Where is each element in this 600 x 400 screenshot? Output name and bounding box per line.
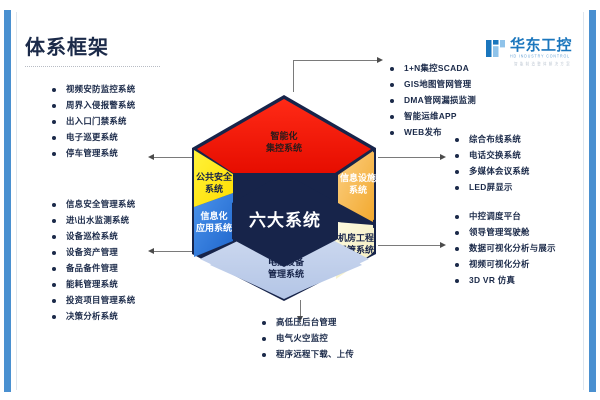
bullet-dot-icon (455, 170, 459, 174)
list-item: 设备巡检系统 (52, 231, 135, 242)
list-item-label: 进\出水监测系统 (66, 215, 129, 226)
hex-label-safety-2: 系统 (205, 183, 223, 194)
hex-label-intelligent-2: 集控系统 (265, 142, 302, 153)
title-divider (25, 66, 160, 67)
list-item-label: 综合布线系统 (469, 134, 521, 145)
list-item: DMA管网漏损监测 (390, 95, 476, 106)
hex-segment-intelligent-control: 智能化 集控系统 (197, 99, 371, 173)
list-item-label: 出入口门禁系统 (66, 116, 127, 127)
list-item: 高低压后台管理 (262, 317, 354, 328)
hex-label-intelligent-1: 智能化 (270, 130, 297, 141)
bullet-dot-icon (455, 215, 459, 219)
list-item-label: 信息安全管理系统 (66, 199, 135, 210)
right-accent-stripe (589, 10, 596, 392)
hex-label-facility-2: 系统 (349, 184, 367, 195)
list-item: 出入口门禁系统 (52, 116, 135, 127)
six-systems-hexagon: 智能化 集控系统 信息设施 系统 机房工程 运管系统 (186, 89, 382, 307)
list-item: 能耗管理系统 (52, 279, 135, 290)
bullet-dot-icon (455, 247, 459, 251)
list-item: 1+N集控SCADA (390, 63, 476, 74)
list-item-label: 电气火空监控 (276, 333, 328, 344)
hexagon-svg: 智能化 集控系统 信息设施 系统 机房工程 运管系统 (186, 89, 382, 307)
logo-text: 华东工控 HD INDUSTRY CONTROL (510, 38, 572, 59)
hex-label-app-2: 应用系统 (196, 222, 232, 233)
list-item: 中控调度平台 (455, 211, 556, 222)
list-item-label: 多媒体会议系统 (469, 166, 530, 177)
list-item: 多媒体会议系统 (455, 166, 530, 177)
list-item-label: 能耗管理系统 (66, 279, 118, 290)
left-accent-stripe (4, 10, 11, 392)
list-item-label: LED屏显示 (469, 182, 513, 193)
list-item-label: 电话交换系统 (469, 150, 521, 161)
hex-label-safety-1: 公共安全 (196, 171, 233, 182)
hex-label-room-1: 机房工程 (338, 232, 374, 243)
bullet-dot-icon (455, 186, 459, 190)
bullet-dot-icon (52, 104, 56, 108)
list-item-label: 1+N集控SCADA (404, 63, 469, 74)
list-item: 备品备件管理 (52, 263, 135, 274)
list-item-label: 领导管理驾驶舱 (469, 227, 530, 238)
bullet-dot-icon (455, 279, 459, 283)
list-item: 3D VR 仿真 (455, 275, 556, 286)
list-item: 电气火空监控 (262, 333, 354, 344)
bullet-dot-icon (52, 267, 56, 271)
title-block: 体系框架 (25, 36, 275, 67)
left-inner-rule (16, 12, 17, 390)
bullet-dot-icon (52, 251, 56, 255)
list-item-label: GIS地图管网管理 (404, 79, 471, 90)
hex-center-label: 六大系统 (249, 210, 321, 230)
list-item: 领导管理驾驶舱 (455, 227, 556, 238)
list-item: 程序远程下载、上传 (262, 349, 354, 360)
right-inner-rule (583, 12, 584, 390)
hex-label-facility-1: 信息设施 (340, 172, 376, 183)
list-item-label: DMA管网漏损监测 (404, 95, 476, 106)
list-item-label: 中控调度平台 (469, 211, 521, 222)
bullet-dot-icon (52, 315, 56, 319)
list-item: 智能运维APP (390, 111, 476, 122)
logo-bars-mark-icon (486, 40, 505, 57)
hex-label-electric-2: 管理系统 (268, 268, 304, 279)
list-item-label: 决策分析系统 (66, 311, 118, 322)
bullet-dot-icon (52, 136, 56, 140)
list-item: 周界入侵报警系统 (52, 100, 135, 111)
list-item-label: 备品备件管理 (66, 263, 118, 274)
list-intelligent-control-systems: 1+N集控SCADAGIS地图管网管理DMA管网漏损监测智能运维APPWEB发布 (390, 63, 476, 143)
list-item-label: 设备资产管理 (66, 247, 118, 258)
list-item: 进\出水监测系统 (52, 215, 135, 226)
logo-name-cn: 华东工控 (510, 38, 572, 53)
list-item: 电话交换系统 (455, 150, 530, 161)
list-item: 电子巡更系统 (52, 132, 135, 143)
bullet-dot-icon (52, 120, 56, 124)
list-item: 投资项目管理系统 (52, 295, 135, 306)
bullet-dot-icon (390, 67, 394, 71)
list-info-facility-systems: 综合布线系统电话交换系统多媒体会议系统LED屏显示 (455, 134, 530, 198)
list-item-label: 数据可视化分析与展示 (469, 243, 556, 254)
list-public-safety-systems: 视频安防监控系统周界入侵报警系统出入口门禁系统电子巡更系统停车管理系统 (52, 84, 135, 164)
bullet-dot-icon (262, 353, 266, 357)
list-item-label: 视频可视化分析 (469, 259, 530, 270)
list-item-label: 设备巡检系统 (66, 231, 118, 242)
list-item-label: 智能运维APP (404, 111, 457, 122)
list-item-label: 周界入侵报警系统 (66, 100, 135, 111)
list-item-label: 电子巡更系统 (66, 132, 118, 143)
list-info-application-systems: 信息安全管理系统进\出水监测系统设备巡检系统设备资产管理备品备件管理能耗管理系统… (52, 199, 135, 327)
hex-label-app-1: 信息化 (200, 210, 227, 221)
logo-subtitle: 智能制造整体解决方案 (514, 60, 572, 67)
page-title: 体系框架 (25, 36, 275, 60)
bullet-dot-icon (390, 131, 394, 135)
bullet-dot-icon (52, 283, 56, 287)
bullet-dot-icon (52, 152, 56, 156)
list-item: LED屏显示 (455, 182, 530, 193)
bullet-dot-icon (455, 263, 459, 267)
list-item-label: 3D VR 仿真 (469, 275, 515, 286)
bullet-dot-icon (52, 299, 56, 303)
list-item: 停车管理系统 (52, 148, 135, 159)
list-item-label: WEB发布 (404, 127, 442, 138)
bullet-dot-icon (390, 83, 394, 87)
list-item: 决策分析系统 (52, 311, 135, 322)
logo-name-en: HD INDUSTRY CONTROL (510, 55, 572, 60)
bullet-dot-icon (52, 235, 56, 239)
bullet-dot-icon (455, 231, 459, 235)
bullet-dot-icon (262, 321, 266, 325)
list-item-label: 高低压后台管理 (276, 317, 337, 328)
list-item-label: 投资项目管理系统 (66, 295, 135, 306)
list-item-label: 程序远程下载、上传 (276, 349, 354, 360)
bullet-dot-icon (52, 88, 56, 92)
bullet-dot-icon (390, 99, 394, 103)
list-item: 信息安全管理系统 (52, 199, 135, 210)
bullet-dot-icon (262, 337, 266, 341)
list-computer-room-systems: 中控调度平台领导管理驾驶舱数据可视化分析与展示视频可视化分析3D VR 仿真 (455, 211, 556, 291)
bullet-dot-icon (52, 219, 56, 223)
bullet-dot-icon (455, 154, 459, 158)
list-item: 数据可视化分析与展示 (455, 243, 556, 254)
list-item: 设备资产管理 (52, 247, 135, 258)
list-item: 视频安防监控系统 (52, 84, 135, 95)
list-item-label: 视频安防监控系统 (66, 84, 135, 95)
list-electric-equipment-systems: 高低压后台管理电气火空监控程序远程下载、上传 (262, 317, 354, 365)
slide-canvas: 体系框架 华东工控 HD INDUSTRY CONTROL 智能制造整体解决方案 (0, 0, 600, 400)
company-logo: 华东工控 HD INDUSTRY CONTROL (486, 38, 572, 59)
bullet-dot-icon (52, 203, 56, 207)
list-item: 视频可视化分析 (455, 259, 556, 270)
bullet-dot-icon (390, 115, 394, 119)
list-item: 综合布线系统 (455, 134, 530, 145)
list-item-label: 停车管理系统 (66, 148, 118, 159)
list-item: GIS地图管网管理 (390, 79, 476, 90)
bullet-dot-icon (455, 138, 459, 142)
